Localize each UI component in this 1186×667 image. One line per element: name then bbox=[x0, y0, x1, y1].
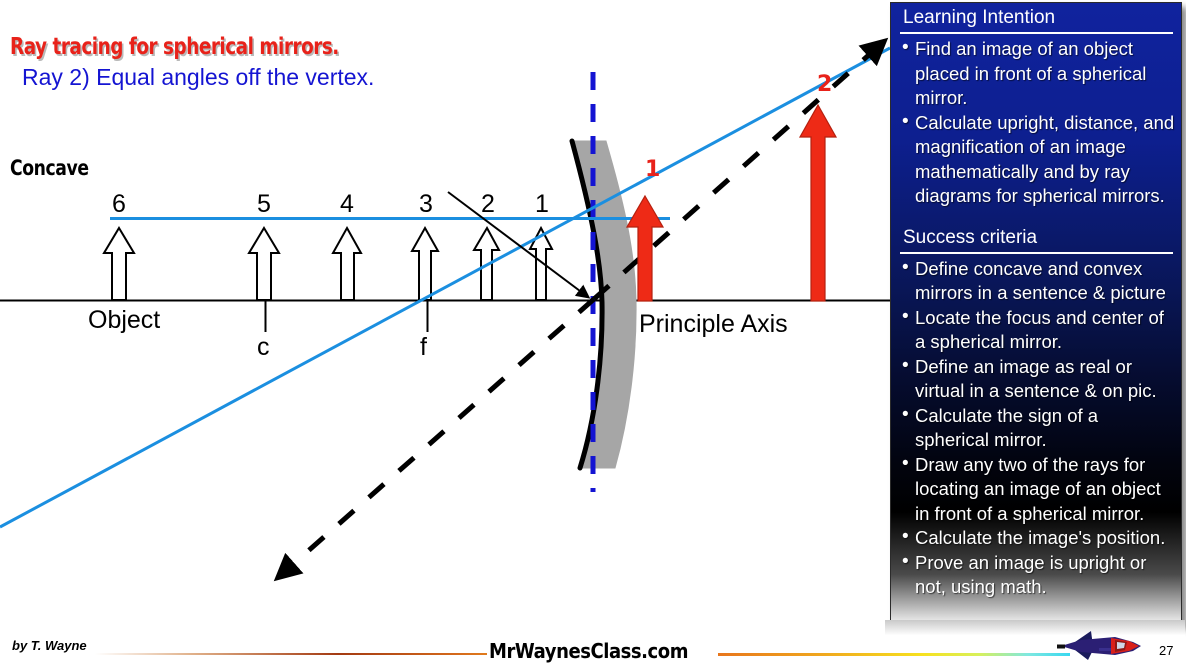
focus-label: f bbox=[420, 333, 427, 362]
list-item: Prove an image is upright or not, using … bbox=[901, 551, 1175, 600]
object-number-5: 5 bbox=[244, 190, 284, 219]
object-number-6: 6 bbox=[99, 190, 139, 219]
learning-intention-divider bbox=[900, 32, 1173, 34]
object-arrow-3 bbox=[412, 228, 438, 300]
footer-author: by T. Wayne bbox=[12, 638, 87, 653]
list-item: Define an image as real or virtual in a … bbox=[901, 355, 1175, 404]
success-criteria-list: Define concave and convex mirrors in a s… bbox=[891, 257, 1181, 600]
image-arrow-2 bbox=[800, 105, 836, 301]
object-number-2: 2 bbox=[468, 190, 508, 219]
object-arrow-4 bbox=[333, 228, 361, 300]
footer-line-left bbox=[95, 653, 487, 655]
principle-axis-label: Principle Axis bbox=[639, 310, 788, 339]
list-item: Calculate the image's position. bbox=[901, 526, 1175, 551]
image-label-1: 1 bbox=[645, 157, 660, 182]
learning-intention-heading: Learning Intention bbox=[891, 3, 1181, 31]
slide-canvas: Ray tracing for spherical mirrors. Ray 2… bbox=[0, 0, 1186, 667]
list-item: Calculate the sign of a spherical mirror… bbox=[901, 404, 1175, 453]
footer-site-name: MrWaynesClass.com bbox=[489, 639, 688, 663]
object-label: Object bbox=[88, 306, 160, 335]
list-item: Define concave and convex mirrors in a s… bbox=[901, 257, 1175, 306]
image-label-2: 2 bbox=[817, 72, 832, 97]
success-criteria-block: Success criteria Define concave and conv… bbox=[891, 223, 1181, 600]
jet-rocket-icon bbox=[1055, 626, 1165, 666]
page-number: 27 bbox=[1159, 643, 1173, 658]
list-item: Calculate upright, distance, and magnifi… bbox=[901, 111, 1175, 209]
learning-intention-block: Learning Intention Find an image of an o… bbox=[891, 3, 1181, 209]
objectives-sidebar: Learning Intention Find an image of an o… bbox=[890, 2, 1182, 625]
object-arrow-6 bbox=[104, 228, 134, 300]
incident-ray-through-focus bbox=[0, 48, 890, 527]
object-number-3: 3 bbox=[406, 190, 446, 219]
object-number-1: 1 bbox=[522, 190, 562, 219]
learning-intention-list: Find an image of an object placed in fro… bbox=[891, 37, 1181, 209]
success-criteria-divider bbox=[900, 252, 1173, 254]
footer-line-right bbox=[718, 653, 1070, 656]
object-arrow-5 bbox=[249, 228, 279, 300]
list-item: Locate the focus and center of a spheric… bbox=[901, 306, 1175, 355]
object-number-4: 4 bbox=[327, 190, 367, 219]
success-criteria-heading: Success criteria bbox=[891, 223, 1181, 251]
list-item: Find an image of an object placed in fro… bbox=[901, 37, 1175, 111]
list-item: Draw any two of the rays for locating an… bbox=[901, 453, 1175, 527]
reflected-ray-dashed-lower bbox=[282, 299, 594, 574]
center-label: c bbox=[257, 333, 270, 362]
reflected-ray-dashed-upper bbox=[594, 45, 880, 299]
